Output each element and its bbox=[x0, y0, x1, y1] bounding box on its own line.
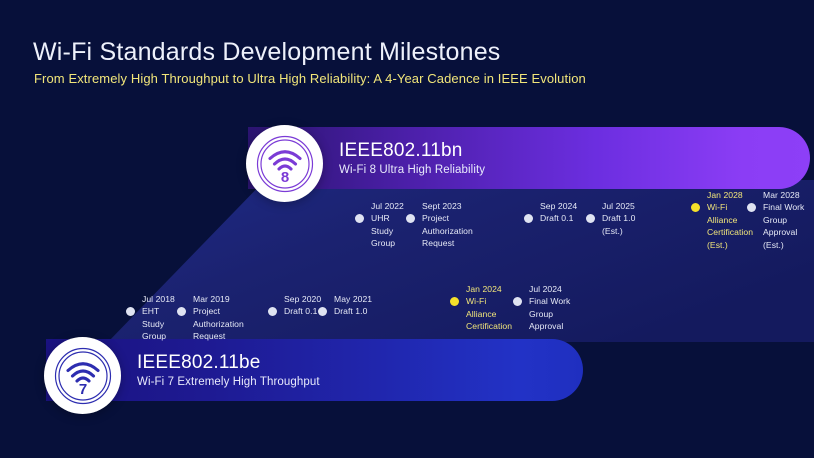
milestone-date: Sep 2020 bbox=[284, 293, 321, 305]
milestone-label-line: Authorization bbox=[422, 225, 473, 237]
milestone[interactable]: Jul 2025Draft 1.0(Est.) bbox=[586, 200, 635, 237]
milestone-label-line: Group bbox=[371, 237, 404, 249]
milestone-text: Jul 2022UHRStudyGroup bbox=[371, 200, 404, 250]
milestone-date: Jul 2024 bbox=[529, 283, 570, 295]
milestone-label-line: Group bbox=[763, 214, 804, 226]
milestone-date: May 2021 bbox=[334, 293, 372, 305]
milestone-date: Mar 2028 bbox=[763, 189, 804, 201]
milestone[interactable]: Sept 2023ProjectAuthorizationRequest bbox=[406, 200, 473, 250]
milestone-date: Sept 2023 bbox=[422, 200, 473, 212]
milestone-text: Sep 2020Draft 0.1 bbox=[284, 293, 321, 318]
milestone-date: Sep 2024 bbox=[540, 200, 577, 212]
milestone-label-line: (Est.) bbox=[763, 239, 804, 251]
page-title: Wi-Fi Standards Development Milestones bbox=[33, 38, 501, 67]
milestone-label-line: (Est.) bbox=[602, 225, 635, 237]
slide-canvas: Wi-Fi Standards Development Milestones F… bbox=[0, 0, 814, 458]
milestone-date: Jul 2025 bbox=[602, 200, 635, 212]
milestone-label-line: Group bbox=[142, 330, 175, 342]
milestone-text: Mar 2019ProjectAuthorizationRequest bbox=[193, 293, 244, 343]
milestone-label-line: Draft 0.1 bbox=[540, 212, 577, 224]
wifi-generation-number-7: 7 bbox=[78, 381, 86, 398]
milestone-label-line: Approval bbox=[763, 226, 804, 238]
track-name-be: IEEE802.11be bbox=[137, 352, 320, 374]
milestone-label-line: Alliance bbox=[466, 308, 512, 320]
milestone-dot-icon bbox=[355, 214, 364, 223]
milestone-dot-highlight-icon bbox=[691, 203, 700, 212]
milestone-label-line: Final Work bbox=[529, 295, 570, 307]
milestone-label-line: Request bbox=[193, 330, 244, 342]
milestone-text: Jan 2024Wi-FiAllianceCertification bbox=[466, 283, 512, 333]
milestone[interactable]: Jan 2024Wi-FiAllianceCertification bbox=[450, 283, 512, 333]
track-bar-ieee802-11be: IEEE802.11be Wi-Fi 7 Extremely High Thro… bbox=[46, 339, 583, 401]
wifi-icon: 7 bbox=[52, 345, 114, 407]
track-subtitle-be: Wi-Fi 7 Extremely High Throughput bbox=[137, 376, 320, 388]
milestone[interactable]: Jul 2018EHTStudyGroup bbox=[126, 293, 175, 343]
milestone-dot-icon bbox=[586, 214, 595, 223]
milestone-dot-icon bbox=[268, 307, 277, 316]
milestone-dot-icon bbox=[126, 307, 135, 316]
milestone-label-line: Request bbox=[422, 237, 473, 249]
milestone-date: Jan 2024 bbox=[466, 283, 512, 295]
milestone-dot-icon bbox=[513, 297, 522, 306]
milestone-dot-highlight-icon bbox=[450, 297, 459, 306]
milestone-date: Jul 2022 bbox=[371, 200, 404, 212]
track-name-bn: IEEE802.11bn bbox=[339, 140, 485, 162]
milestone-label-line: Final Work bbox=[763, 201, 804, 213]
milestone[interactable]: Jul 2024Final WorkGroupApproval bbox=[513, 283, 570, 333]
milestone-label-line: Group bbox=[529, 308, 570, 320]
milestone-text: Sep 2024Draft 0.1 bbox=[540, 200, 577, 225]
milestone-label-line: Approval bbox=[529, 320, 570, 332]
wifi-7-badge: 7 bbox=[44, 337, 121, 414]
milestone[interactable]: Sep 2024Draft 0.1 bbox=[524, 200, 577, 225]
wifi-icon: 8 bbox=[254, 133, 316, 195]
track-bar-ieee802-11bn: IEEE802.11bn Wi-Fi 8 Ultra High Reliabil… bbox=[248, 127, 810, 189]
milestone-dot-icon bbox=[524, 214, 533, 223]
milestone-label-line: Draft 1.0 bbox=[334, 305, 372, 317]
track-subtitle-bn: Wi-Fi 8 Ultra High Reliability bbox=[339, 164, 485, 176]
milestone-label-line: Study bbox=[142, 318, 175, 330]
milestone-label-line: Draft 0.1 bbox=[284, 305, 321, 317]
milestone-text: Jul 2025Draft 1.0(Est.) bbox=[602, 200, 635, 237]
milestone-text: Jul 2024Final WorkGroupApproval bbox=[529, 283, 570, 333]
milestone-date: Jul 2018 bbox=[142, 293, 175, 305]
milestone-text: Sept 2023ProjectAuthorizationRequest bbox=[422, 200, 473, 250]
page-subtitle: From Extremely High Throughput to Ultra … bbox=[34, 71, 586, 86]
milestone-dot-icon bbox=[747, 203, 756, 212]
milestone[interactable]: Jan 2028Wi-FiAllianceCertification(Est.) bbox=[691, 189, 753, 251]
milestone-dot-icon bbox=[406, 214, 415, 223]
milestone[interactable]: May 2021Draft 1.0 bbox=[318, 293, 372, 318]
milestone-label-line: Authorization bbox=[193, 318, 244, 330]
milestone-dot-icon bbox=[177, 307, 186, 316]
milestone[interactable]: Mar 2019ProjectAuthorizationRequest bbox=[177, 293, 244, 343]
milestone-label-line: Wi-Fi bbox=[466, 295, 512, 307]
milestone[interactable]: Jul 2022UHRStudyGroup bbox=[355, 200, 404, 250]
milestone-label-line: Project bbox=[193, 305, 244, 317]
wifi-8-badge: 8 bbox=[246, 125, 323, 202]
milestone-label-line: UHR bbox=[371, 212, 404, 224]
milestone-text: Jul 2018EHTStudyGroup bbox=[142, 293, 175, 343]
milestone-text: Mar 2028Final WorkGroupApproval(Est.) bbox=[763, 189, 804, 251]
milestone-label-line: Certification bbox=[466, 320, 512, 332]
milestone[interactable]: Sep 2020Draft 0.1 bbox=[268, 293, 321, 318]
milestone-label-line: Study bbox=[371, 225, 404, 237]
milestone-label-line: Project bbox=[422, 212, 473, 224]
milestone-dot-icon bbox=[318, 307, 327, 316]
milestone-label-line: EHT bbox=[142, 305, 175, 317]
milestone[interactable]: Mar 2028Final WorkGroupApproval(Est.) bbox=[747, 189, 804, 251]
milestone-label-line: Draft 1.0 bbox=[602, 212, 635, 224]
milestone-text: May 2021Draft 1.0 bbox=[334, 293, 372, 318]
milestone-date: Mar 2019 bbox=[193, 293, 244, 305]
wifi-generation-number-8: 8 bbox=[280, 169, 288, 186]
